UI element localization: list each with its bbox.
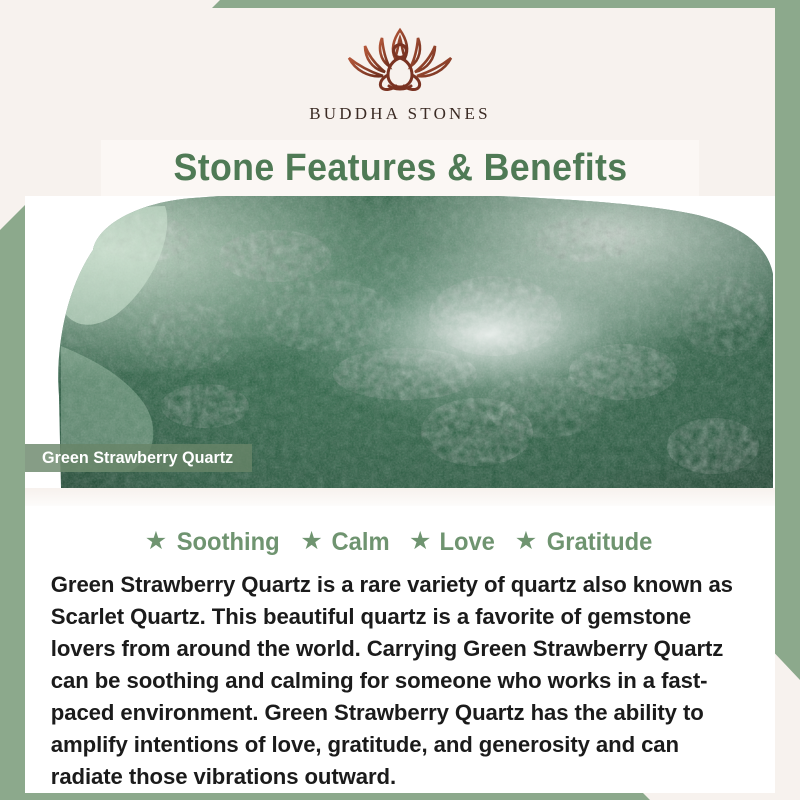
keyword-label: Gratitude: [547, 528, 653, 557]
keyword-item: ★ Calm: [300, 528, 391, 557]
keyword-label: Calm: [331, 528, 389, 557]
keyword-label: Love: [440, 528, 495, 557]
description-paragraph: Green Strawberry Quartz is a rare variet…: [37, 569, 752, 793]
keyword-item: ★ Love: [409, 528, 497, 557]
brand-wordmark: BUDDHA STONES: [309, 104, 491, 124]
photo-caption: Green Strawberry Quartz: [25, 444, 252, 472]
lotus-meditation-icon: [341, 24, 459, 102]
star-icon: ★: [515, 529, 537, 554]
poster-canvas: BUDDHA STONES Stone Features & Benefits: [0, 0, 800, 800]
brand-header: BUDDHA STONES: [25, 8, 775, 140]
poster-card: BUDDHA STONES Stone Features & Benefits: [25, 8, 775, 770]
star-icon: ★: [300, 529, 322, 554]
star-icon: ★: [145, 529, 167, 554]
title-banner: Stone Features & Benefits: [101, 140, 699, 196]
keyword-label: Soothing: [177, 528, 280, 557]
page-title: Stone Features & Benefits: [173, 147, 627, 190]
star-icon: ★: [409, 529, 431, 554]
keyword-item: ★ Gratitude: [515, 528, 656, 557]
photo-seam: [25, 488, 775, 506]
keyword-item: ★ Soothing: [145, 528, 283, 557]
photo-caption-label: Green Strawberry Quartz: [42, 448, 233, 468]
keyword-list: ★ Soothing ★ Calm ★ Love ★ Gratitude: [37, 528, 763, 557]
stone-photo: Green Strawberry Quartz: [25, 196, 775, 488]
content-area: ★ Soothing ★ Calm ★ Love ★ Gratitude Gre…: [25, 506, 775, 793]
